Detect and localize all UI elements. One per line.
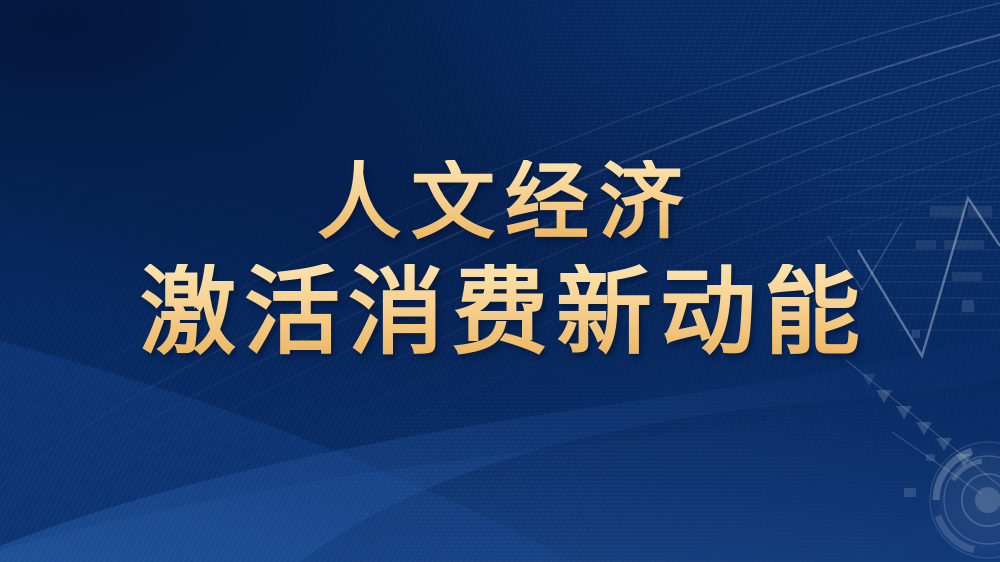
poster-canvas: 人文经济 激活消费新动能: [0, 0, 1000, 562]
poster-title: 人文经济 激活消费新动能: [0, 160, 1000, 360]
title-line-secondary: 激活消费新动能: [0, 264, 1000, 360]
title-line-primary: 人文经济: [0, 160, 1000, 244]
hud-ring: [892, 432, 1000, 562]
triangle-markers: [846, 360, 1000, 486]
